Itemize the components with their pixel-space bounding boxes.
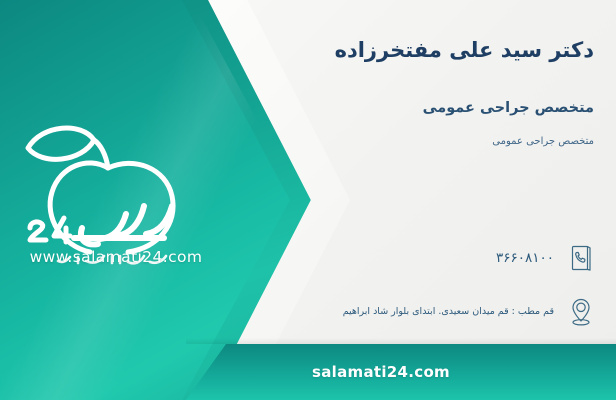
footer-website: salamati24.com [312, 363, 490, 381]
doctor-specialty-secondary: متخصص جراحی عمومی [294, 136, 594, 147]
map-pin-icon [564, 292, 598, 332]
business-card: www.salamati24.com دکتر سید علی مفتخرزاد… [0, 0, 616, 400]
numeral-2 [30, 222, 46, 240]
doctor-name: دکتر سید علی مفتخرزاده [294, 38, 594, 62]
logo-website-url: www.salamati24.com [18, 248, 214, 266]
clinic-address: قم مطب : قم میدان سعیدی. ابتدای بلوار شا… [284, 306, 554, 318]
numeral-4 [54, 218, 70, 242]
leaf-shape [28, 128, 94, 159]
contact-row-address: قم مطب : قم میدان سعیدی. ابتدای بلوار شا… [284, 292, 598, 332]
contact-block: ۳۶۶۰۸۱۰۰ قم مطب : قم میدان سعیدی. ابتدای… [284, 238, 598, 346]
footer-bar: salamati24.com [186, 344, 616, 400]
contact-row-phone: ۳۶۶۰۸۱۰۰ [284, 238, 598, 278]
card-content: دکتر سید علی مفتخرزاده متخصص جراحی عمومی… [276, 0, 616, 400]
doctor-specialty-primary: متخصص جراحی عمومی [294, 100, 594, 116]
phonebook-icon [564, 238, 598, 278]
phone-number: ۳۶۶۰۸۱۰۰ [284, 250, 554, 266]
